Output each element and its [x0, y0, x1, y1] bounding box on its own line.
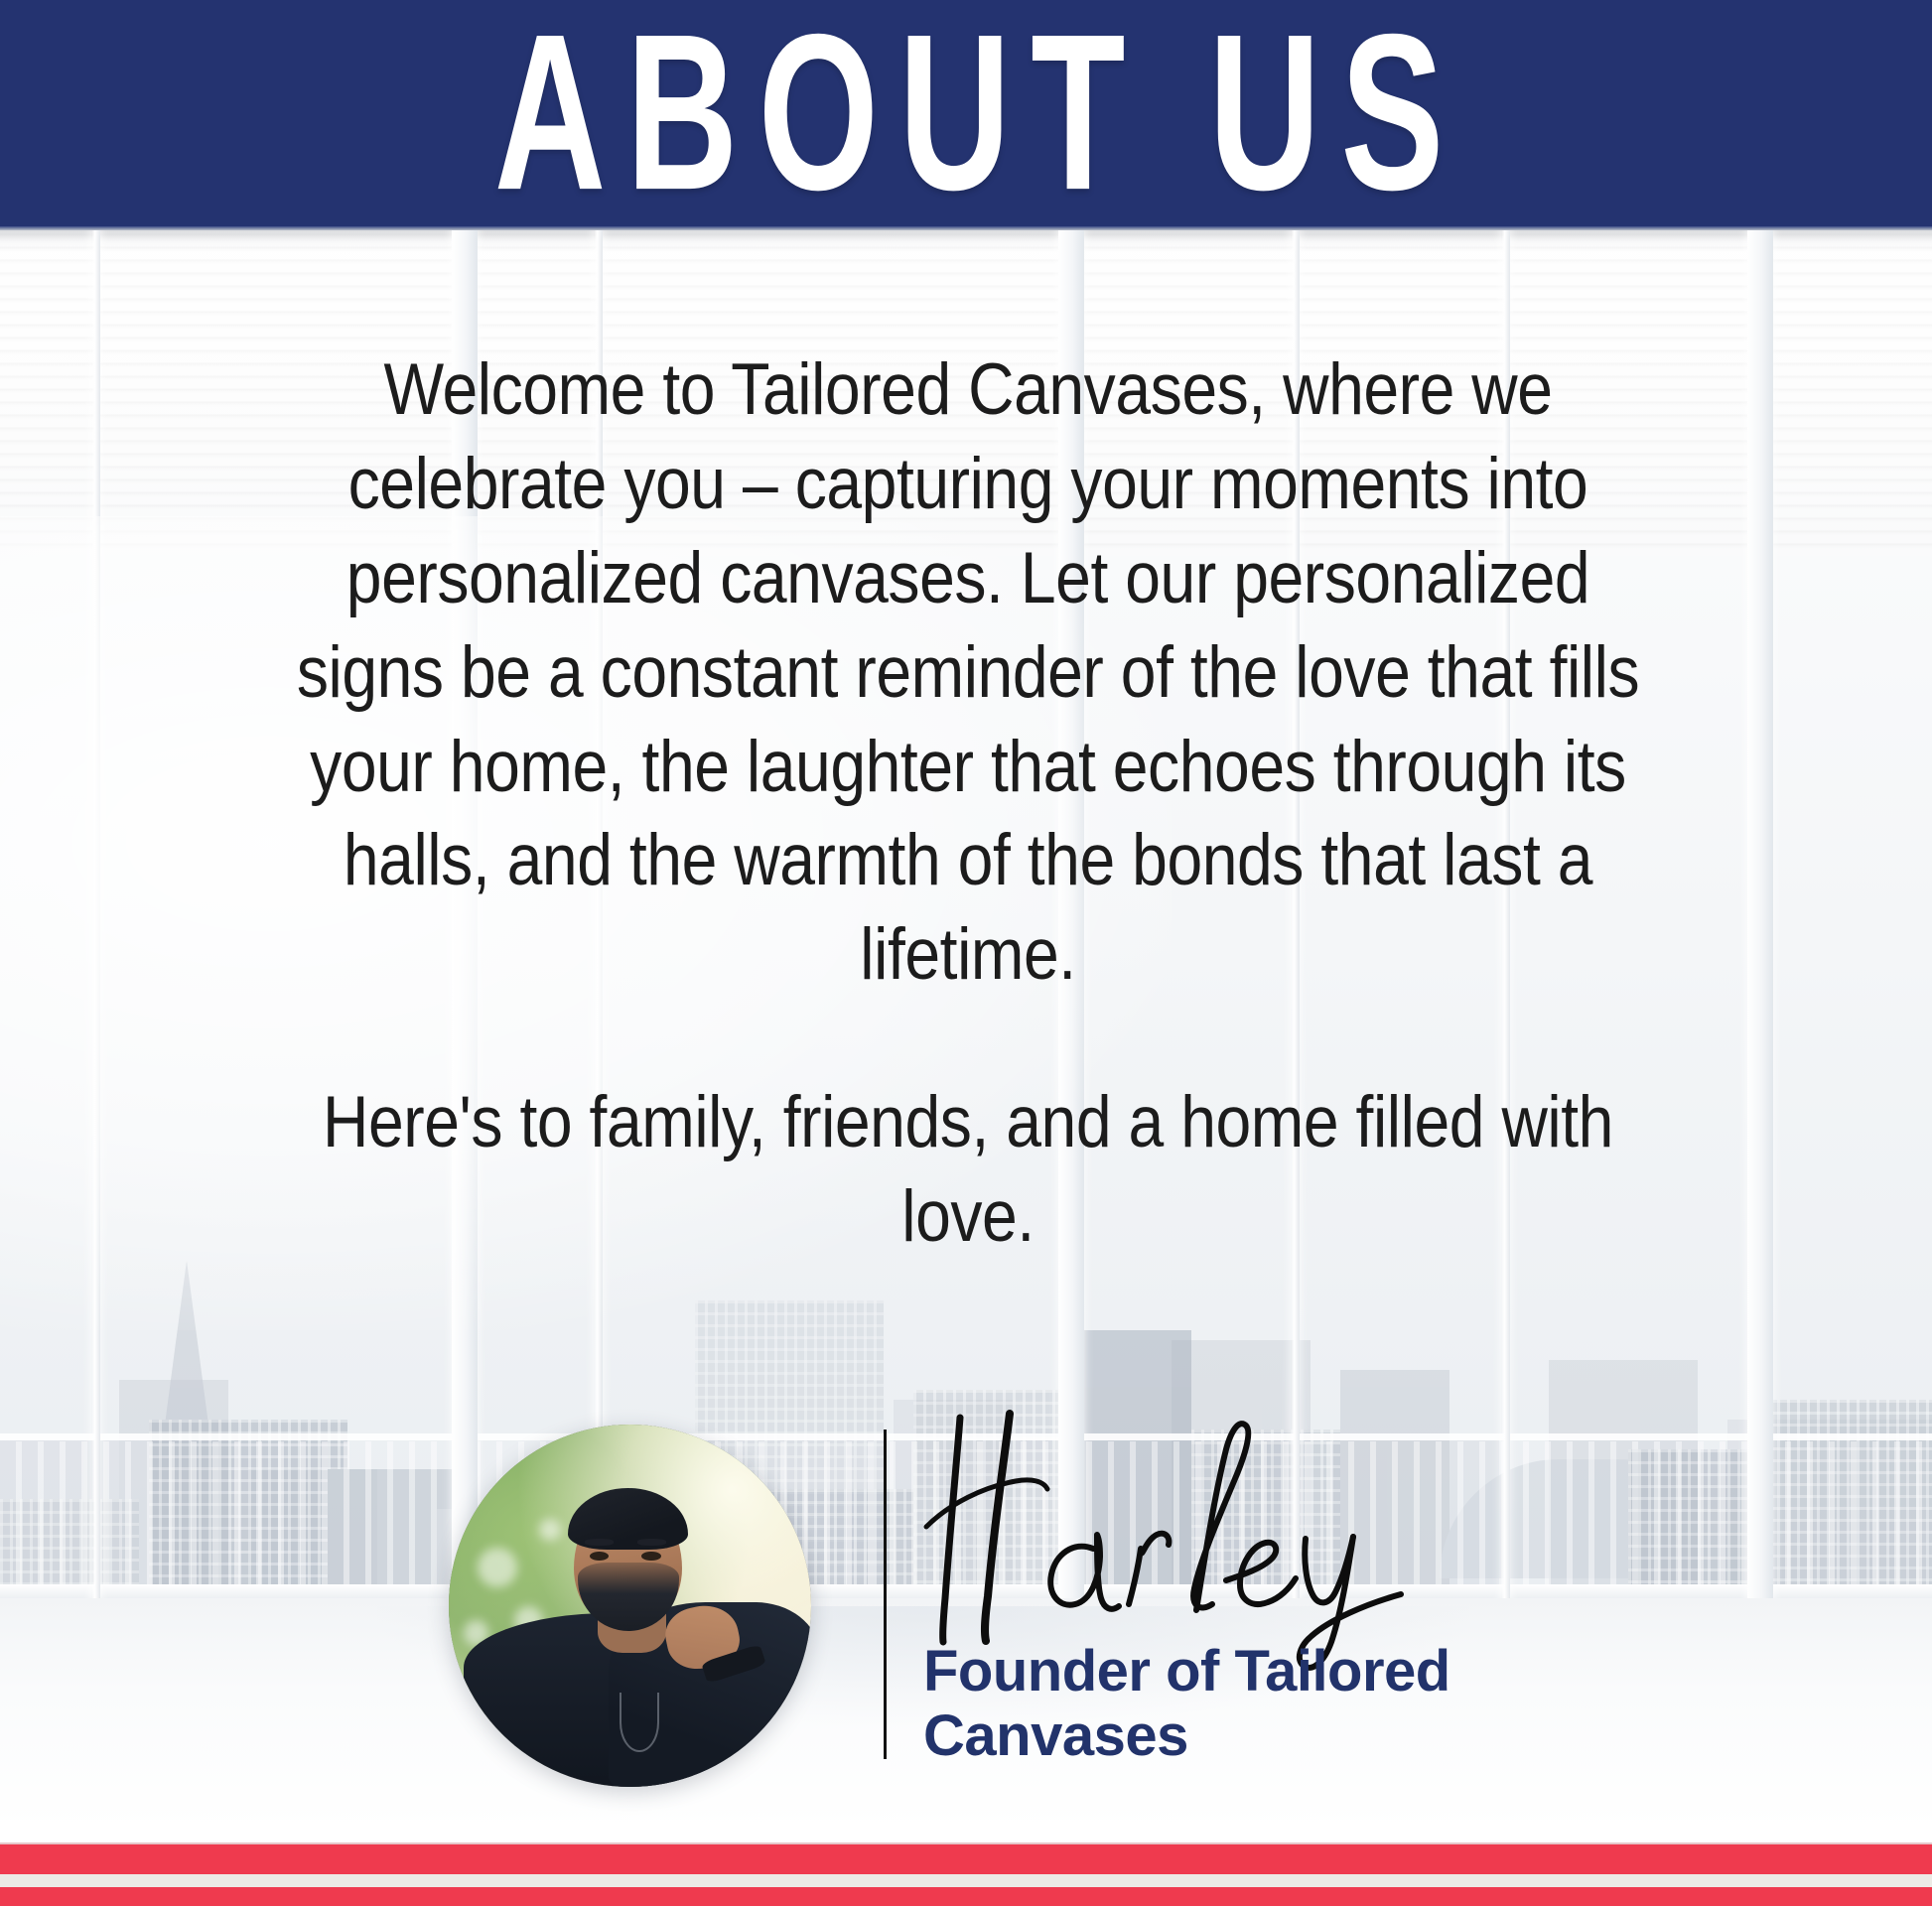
paragraph-gap: [282, 1003, 1654, 1076]
footer-stripe-bottom: [0, 1887, 1932, 1906]
about-paragraph-2: Here's to family, friends, and a home fi…: [282, 1076, 1654, 1265]
header-bottom-rule: [0, 226, 1932, 230]
page-title: ABOUT US: [494, 11, 1464, 215]
about-copy: Welcome to Tailored Canvases, where we c…: [282, 343, 1654, 1265]
about-us-card: ABOUT US Welcome to Tailored Canvases, w…: [0, 0, 1932, 1906]
footer-stripe-gap: [0, 1874, 1932, 1887]
about-paragraph-1: Welcome to Tailored Canvases, where we c…: [282, 343, 1654, 1003]
page-header: ABOUT US: [0, 0, 1932, 226]
stripe-hairline: [0, 1842, 1932, 1844]
founder-block: [0, 1390, 1932, 1817]
footer-stripe-top: [0, 1844, 1932, 1874]
